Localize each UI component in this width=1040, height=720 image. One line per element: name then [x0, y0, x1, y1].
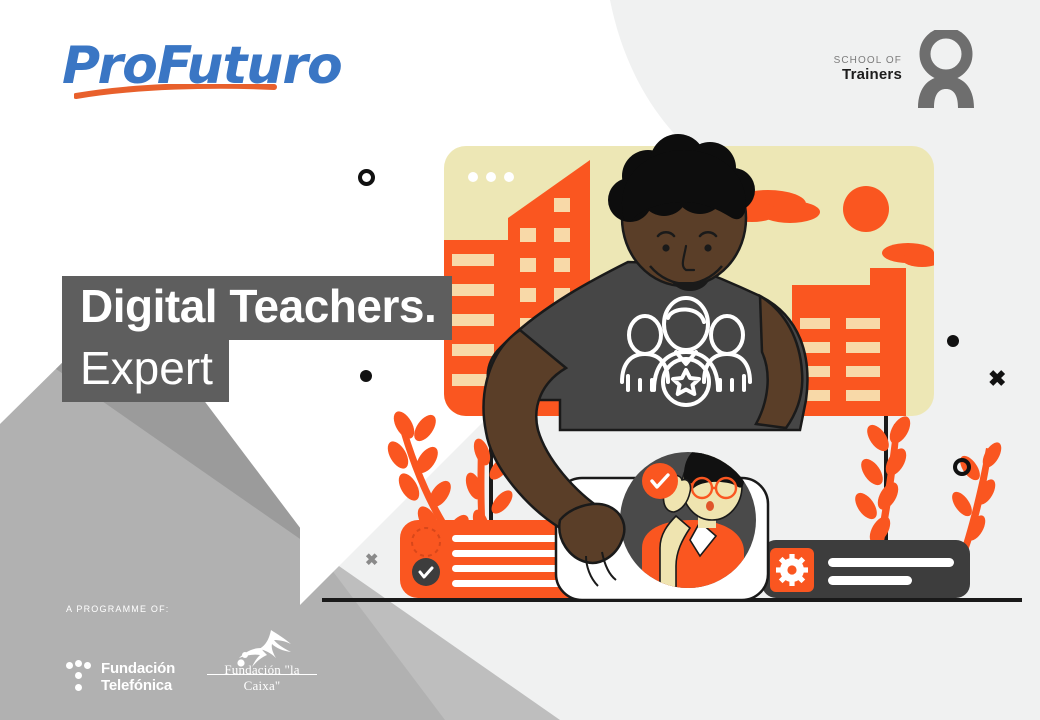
footer-sponsors: A PROGRAMME OF: Fundación Telefónica	[66, 604, 366, 694]
hair-bun	[728, 453, 754, 479]
deco-dot-right	[947, 335, 959, 347]
school-of-trainers-lockup: SCHOOL OF Trainers	[834, 30, 978, 108]
deco-x-right: ✖	[988, 368, 1006, 390]
deco-x-left: ✖	[365, 553, 378, 569]
person-icon	[914, 30, 978, 108]
logo-fundacion-telefonica[interactable]: Fundación Telefónica	[66, 660, 175, 694]
telefonica-dots-icon	[66, 660, 92, 694]
programme-label: A PROGRAMME OF:	[66, 604, 366, 614]
slide-canvas: ✖ ✖ ProFuturo SCHOOL OF Trainers Digital…	[0, 0, 1040, 720]
telefonica-line-1: Fundación	[101, 660, 175, 677]
school-of-label: SCHOOL OF	[834, 55, 902, 67]
deco-ring-upper-left	[358, 169, 375, 186]
gear-icon	[776, 554, 808, 586]
caixa-caption: Fundación "la Caixa"	[207, 662, 317, 694]
telefonica-line-2: Telefónica	[101, 677, 175, 694]
deco-ring-lower-right	[953, 458, 971, 476]
school-name-label: Trainers	[834, 66, 902, 83]
check-badge-icon	[412, 558, 440, 586]
plant-right	[851, 413, 1005, 562]
logo-fundacion-la-caixa[interactable]: Fundación "la Caixa"	[207, 632, 317, 694]
page-title: Digital Teachers. Expert	[62, 276, 452, 402]
title-line-2: Expert	[62, 338, 229, 402]
window-dots	[468, 172, 514, 182]
profuturo-logo[interactable]: ProFuturo	[62, 36, 322, 112]
title-line-1: Digital Teachers.	[62, 276, 452, 340]
check-badge-icon	[642, 463, 678, 499]
card-dark[interactable]	[762, 540, 970, 598]
sun-icon	[843, 186, 889, 232]
